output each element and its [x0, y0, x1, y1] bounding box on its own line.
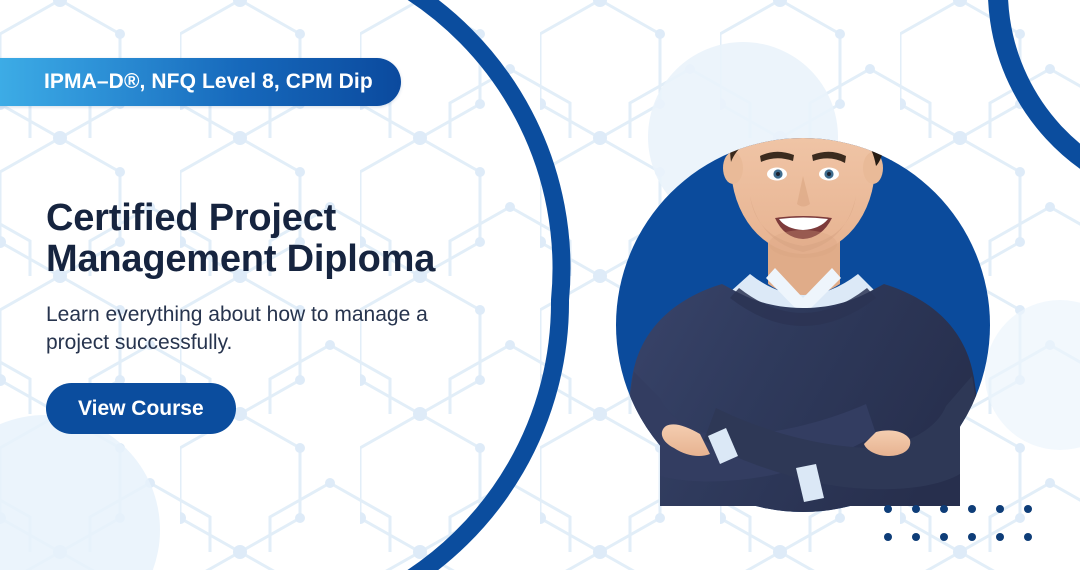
view-course-button[interactable]: View Course [46, 383, 236, 434]
portrait-photo [616, 138, 990, 512]
portrait-illustration [600, 16, 1010, 570]
page-title: Certified Project Management Diploma [46, 198, 516, 280]
headline-line-2: Management Diploma [46, 238, 435, 280]
certification-badge: IPMA–D®, NFQ Level 8, CPM Dip [0, 58, 401, 106]
subheadline: Learn everything about how to manage a p… [46, 301, 471, 357]
course-promo-banner: IPMA–D®, NFQ Level 8, CPM Dip Certified … [0, 0, 1080, 570]
copy-block: Certified Project Management Diploma Lea… [46, 198, 516, 434]
certification-badge-label: IPMA–D®, NFQ Level 8, CPM Dip [44, 70, 373, 94]
headline-line-1: Certified Project [46, 197, 336, 239]
